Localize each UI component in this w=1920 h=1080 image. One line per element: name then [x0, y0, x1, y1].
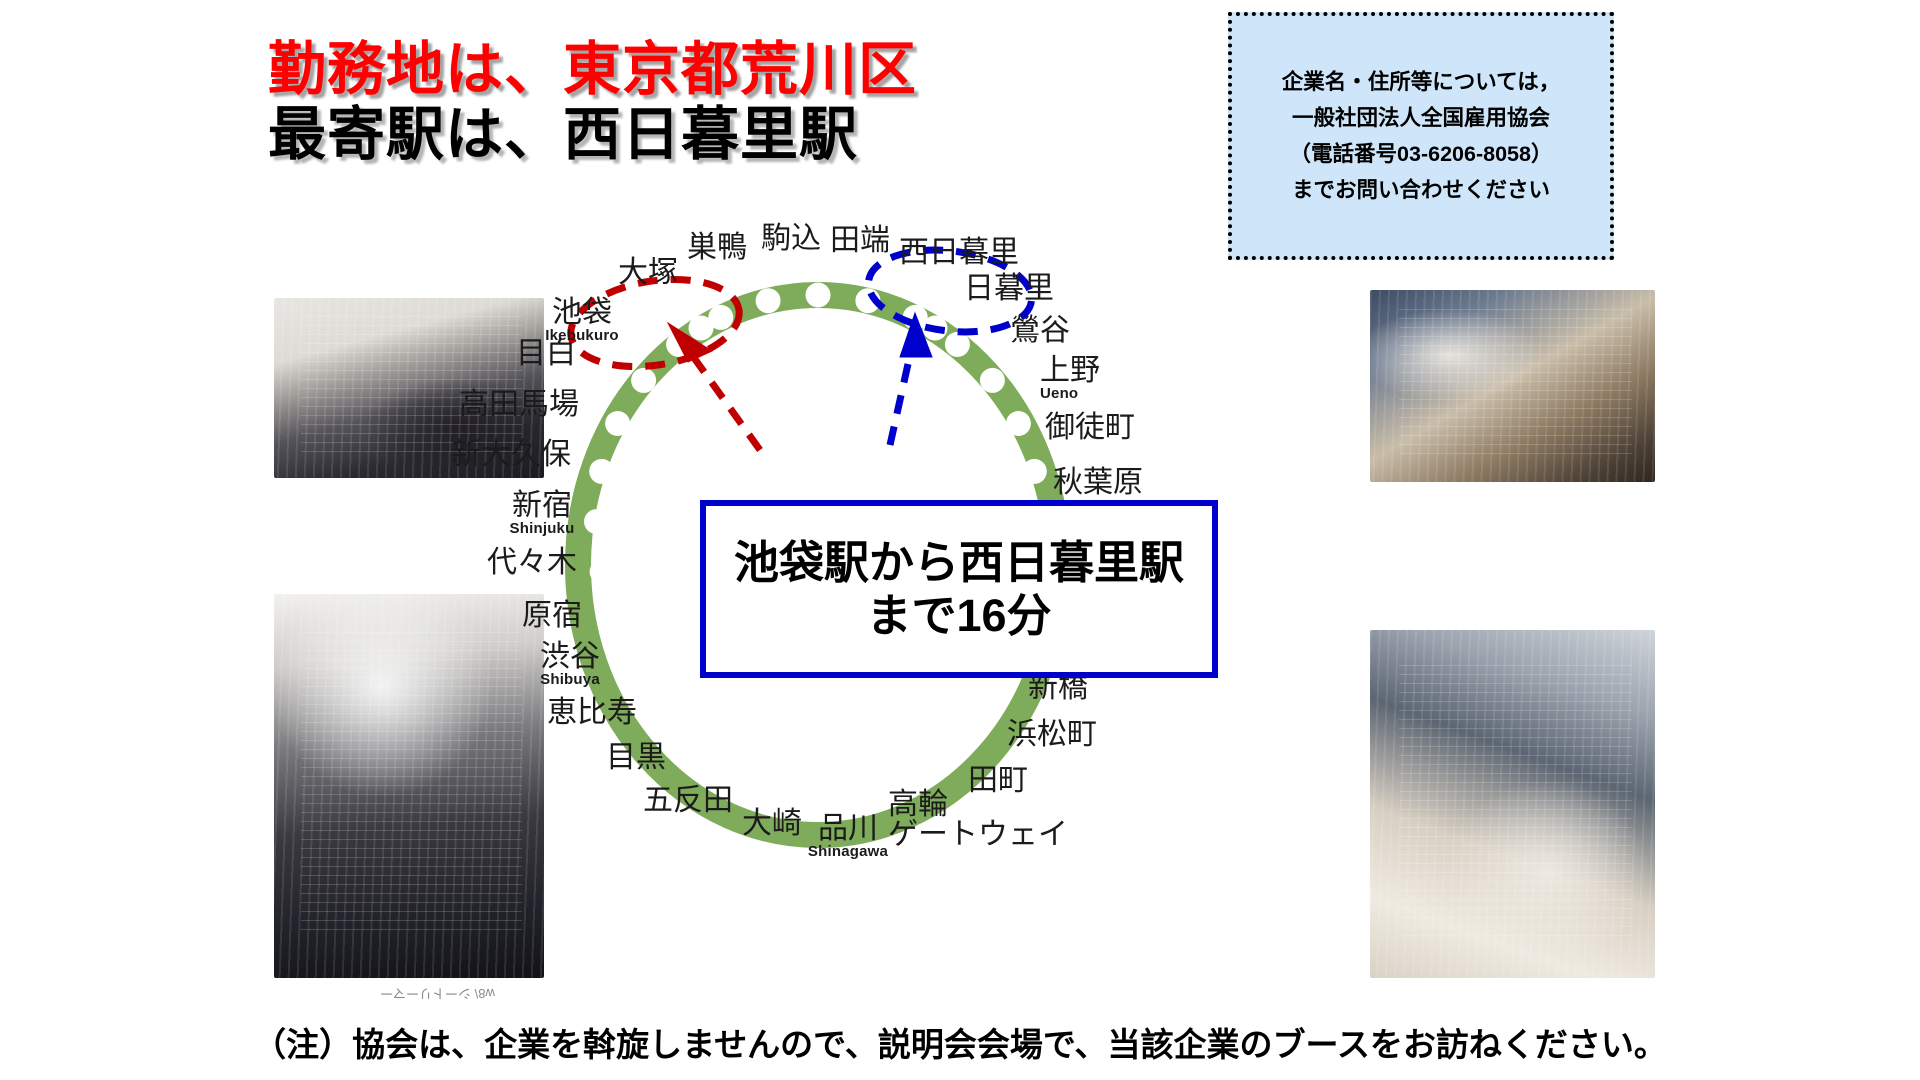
station-label-nishinippori: 西日暮里 — [899, 237, 1019, 268]
photo-office-hands-laptop — [1370, 290, 1655, 482]
arrow-to-ikebukuro — [668, 323, 760, 450]
station-label-hamamatsucho: 浜松町 — [1007, 719, 1097, 750]
title-line-primary: 勤務地は、東京都荒川区 — [268, 38, 1088, 103]
station-label-yoyogi: 代々木 — [467, 547, 597, 578]
travel-time-text: 池袋駅から西日暮里駅 まで16分 — [734, 536, 1184, 642]
station-label-okachimachi: 御徒町 — [1045, 412, 1135, 443]
contact-info-box: 企業名・住所等については， 一般社団法人全国雇用協会 （電話番号03-6206-… — [1228, 12, 1614, 260]
station-label-shibuya: 渋谷 Shibuya — [505, 641, 635, 688]
station-label-shinjuku: 新宿 Shinjuku — [477, 490, 607, 537]
watermark-text: w8\ シートリーマー — [380, 985, 495, 1004]
station-label-gotanda: 五反田 — [623, 785, 753, 816]
contact-info-text: 企業名・住所等については， 一般社団法人全国雇用協会 （電話番号03-6206-… — [1282, 64, 1560, 208]
station-label-harajuku: 原宿 — [492, 600, 612, 631]
station-label-meguro: 目黒 — [576, 742, 696, 773]
footer-note: （注）協会は、企業を斡旋しませんので、説明会会場で、当該企業のブースをお訪ねくだ… — [0, 1018, 1920, 1066]
photo-laptop-pen-documents — [274, 594, 544, 978]
title-line-secondary: 最寄駅は、西日暮里駅 — [268, 103, 1088, 168]
page-title: 勤務地は、東京都荒川区 最寄駅は、西日暮里駅 — [268, 38, 1088, 168]
photo-desk-papers-laptop — [1370, 630, 1655, 978]
station-label-ebisu: 恵比寿 — [527, 697, 657, 728]
station-label-nippori: 日暮里 — [964, 273, 1054, 304]
station-label-shinokubo: 新大久保 — [431, 439, 591, 470]
station-label-uguisudani: 鶯谷 — [1010, 315, 1070, 346]
station-label-mejiro: 目白 — [486, 338, 606, 369]
travel-time-callout: 池袋駅から西日暮里駅 まで16分 — [700, 500, 1218, 678]
station-label-ueno: 上野 Ueno — [1040, 355, 1100, 402]
station-label-akihabara: 秋葉原 — [1053, 467, 1143, 498]
station-label-takadanobaba: 高田馬場 — [434, 389, 604, 420]
